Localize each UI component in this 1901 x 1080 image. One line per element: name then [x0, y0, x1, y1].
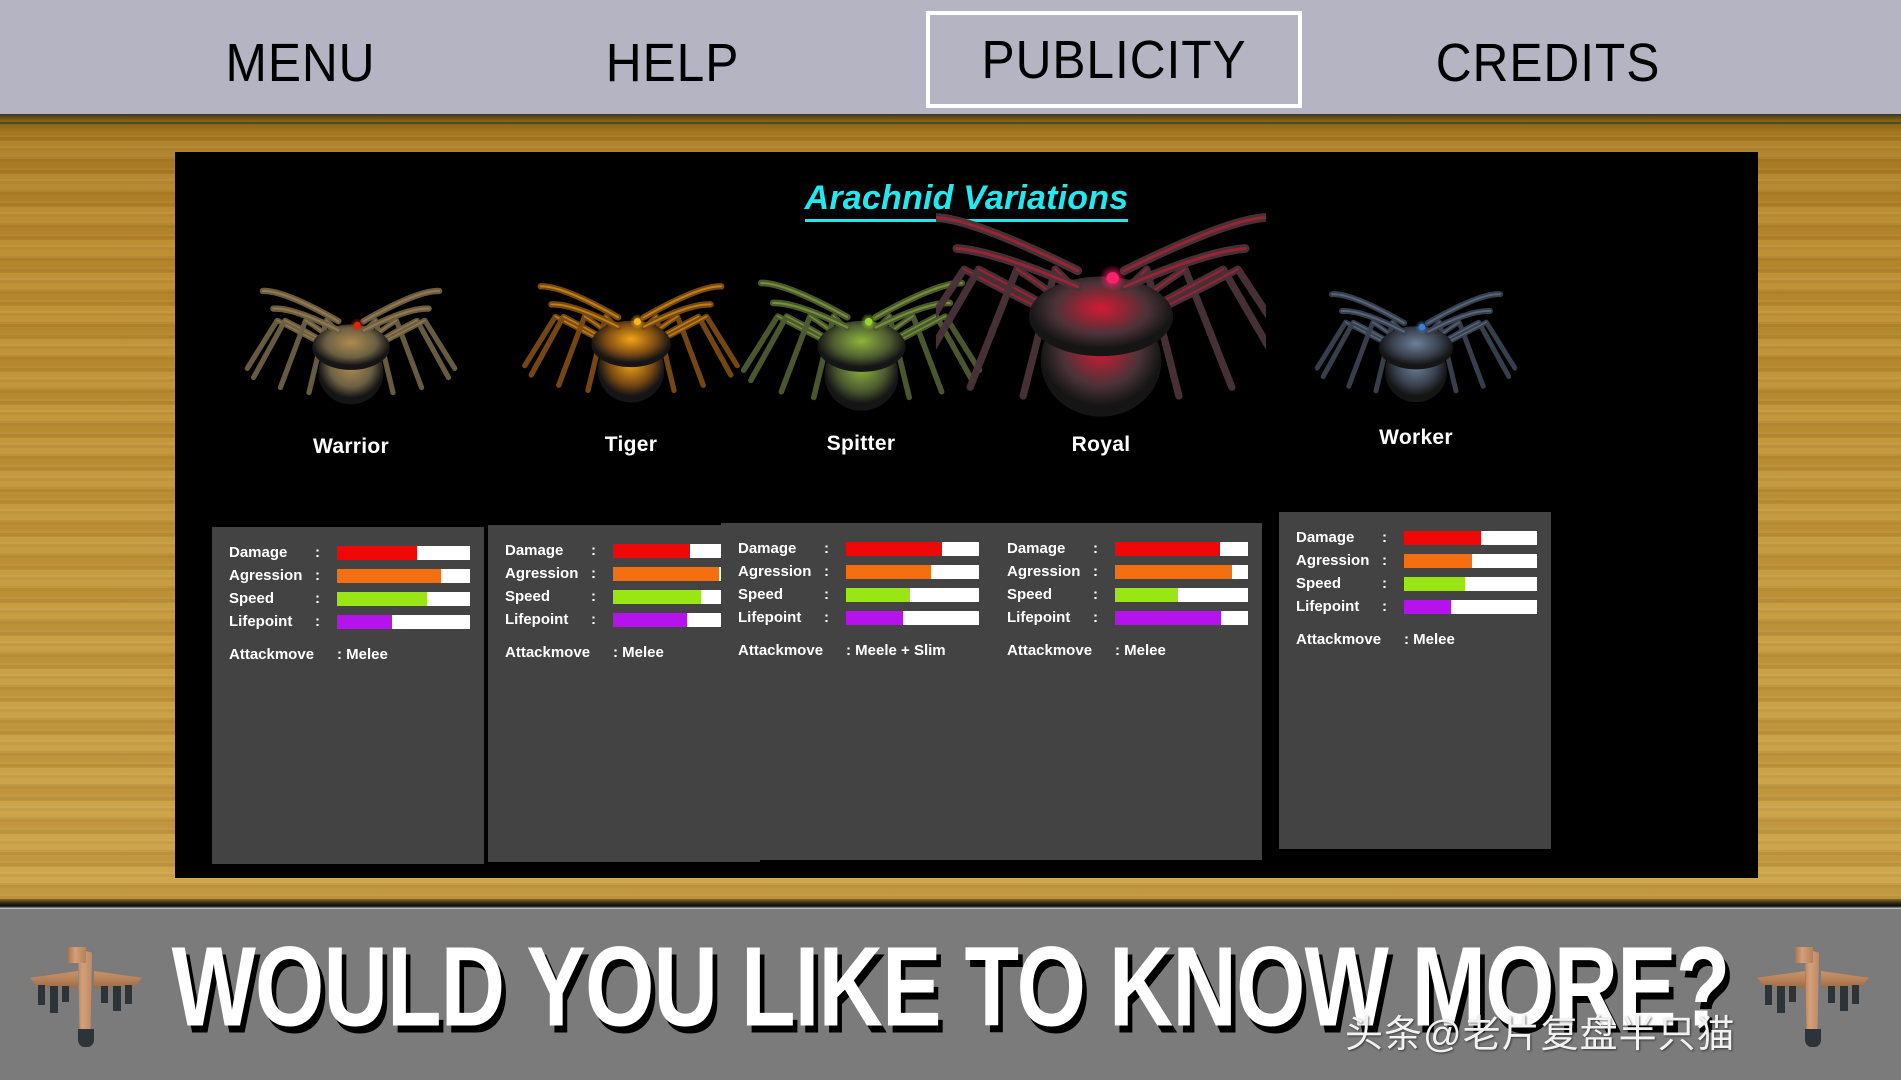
stat-bar-damage	[337, 546, 470, 560]
eagle-emblem-icon-right	[1755, 941, 1871, 1049]
stat-bar-agression	[846, 565, 979, 579]
stat-bar-agression	[1115, 565, 1248, 579]
stat-bar-lifepoint	[337, 615, 470, 629]
attackmove-value: : Meele + Slim	[846, 642, 946, 659]
stat-bar-fill	[846, 565, 931, 579]
stat-colon: :	[315, 544, 337, 561]
stat-bar-fill	[1404, 554, 1472, 568]
stat-row: Damage:	[488, 539, 760, 562]
stat-row: Lifepoint:	[990, 606, 1262, 629]
stat-row: Agression:	[721, 560, 993, 583]
stat-row: Speed:	[990, 583, 1262, 606]
attackmove-value: : Melee	[337, 646, 388, 663]
bottom-banner: WOULD YOU LIKE TO KNOW MORE? 头条@老片复盘半只猫	[0, 907, 1901, 1080]
stat-bar-fill	[613, 544, 690, 558]
stat-colon: :	[1093, 609, 1115, 626]
attackmove-label: Attackmove	[229, 646, 337, 663]
stat-bar-speed	[337, 592, 470, 606]
stat-label: Lifepoint	[1007, 609, 1093, 626]
stat-label: Agression	[1296, 552, 1382, 569]
stat-row: Lifepoint:	[212, 610, 484, 633]
stat-colon: :	[315, 567, 337, 584]
creature-artwork	[936, 197, 1266, 447]
stat-label: Agression	[738, 563, 824, 580]
attackmove-row: Attackmove: Melee	[212, 646, 484, 663]
nav-item-publicity-label: PUBLICITY	[981, 33, 1246, 87]
creature-name: Royal	[935, 433, 1267, 457]
stat-label: Damage	[1007, 540, 1093, 557]
stat-label: Agression	[1007, 563, 1093, 580]
attackmove-value: : Melee	[1115, 642, 1166, 659]
stat-bar-fill	[1115, 611, 1221, 625]
creature-stat-card: Damage:Agression:Speed:Lifepoint:Attackm…	[488, 525, 760, 862]
stat-row: Damage:	[212, 541, 484, 564]
attackmove-value: : Melee	[1404, 631, 1455, 648]
stat-bar-agression	[337, 569, 470, 583]
stat-bar-fill	[613, 613, 687, 627]
stat-row: Lifepoint:	[1279, 595, 1551, 618]
stat-row: Agression:	[212, 564, 484, 587]
stat-bar-fill	[1115, 565, 1232, 579]
stat-bar-fill	[337, 592, 427, 606]
stat-colon: :	[824, 563, 846, 580]
stat-label: Lifepoint	[505, 611, 591, 628]
attackmove-label: Attackmove	[738, 642, 846, 659]
stat-bar-lifepoint	[1404, 600, 1537, 614]
stat-bar-fill	[846, 611, 903, 625]
stat-label: Damage	[1296, 529, 1382, 546]
stat-colon: :	[1382, 529, 1404, 546]
stat-colon: :	[1093, 540, 1115, 557]
nav-divider-strip	[0, 114, 1901, 122]
nav-item-publicity[interactable]: PUBLICITY	[926, 11, 1302, 108]
stat-row: Lifepoint:	[488, 608, 760, 631]
attackmove-label: Attackmove	[1296, 631, 1404, 648]
stat-label: Damage	[229, 544, 315, 561]
stat-row: Damage:	[990, 537, 1262, 560]
stat-bar-fill	[846, 588, 910, 602]
stat-bar-fill	[337, 615, 392, 629]
stat-colon: :	[591, 611, 613, 628]
stat-colon: :	[1093, 586, 1115, 603]
attackmove-row: Attackmove: Melee	[1279, 631, 1551, 648]
stat-colon: :	[591, 565, 613, 582]
stat-colon: :	[591, 542, 613, 559]
app-root: MENU HELP PUBLICITY CREDITS Arachnid Var…	[0, 0, 1901, 1080]
stat-label: Speed	[1296, 575, 1382, 592]
stat-bar-agression	[1404, 554, 1537, 568]
stat-colon: :	[824, 609, 846, 626]
stat-bar-damage	[1115, 542, 1248, 556]
creature-artwork	[506, 244, 756, 444]
attackmove-row: Attackmove: Meele + Slim	[721, 642, 993, 659]
stat-bar-lifepoint	[846, 611, 979, 625]
stat-bar-damage	[846, 542, 979, 556]
stat-colon: :	[1093, 563, 1115, 580]
stat-row: Speed:	[488, 585, 760, 608]
stat-bar-fill	[1115, 542, 1220, 556]
stat-bar-lifepoint	[1115, 611, 1248, 625]
stat-row: Agression:	[1279, 549, 1551, 572]
watermark-text: 头条@老片复盘半只猫	[1345, 1003, 1736, 1058]
stat-label: Agression	[505, 565, 591, 582]
stat-row: Damage:	[1279, 526, 1551, 549]
top-navigation-bar: MENU HELP PUBLICITY CREDITS	[0, 0, 1901, 117]
attackmove-row: Attackmove: Melee	[990, 642, 1262, 659]
creature-stat-card: Damage:Agression:Speed:Lifepoint:Attackm…	[721, 523, 993, 860]
stat-bar-fill	[337, 546, 417, 560]
creature-stat-card: Damage:Agression:Speed:Lifepoint:Attackm…	[990, 523, 1262, 860]
stat-colon: :	[824, 586, 846, 603]
stat-bar-fill	[337, 569, 441, 583]
stat-bar-fill	[613, 567, 719, 581]
stat-bar-speed	[1404, 577, 1537, 591]
stat-row: Damage:	[721, 537, 993, 560]
stat-label: Agression	[229, 567, 315, 584]
nav-item-help[interactable]: HELP	[593, 26, 752, 100]
panel-bottom-divider	[0, 899, 1901, 909]
stat-row: Speed:	[1279, 572, 1551, 595]
stat-colon: :	[1382, 575, 1404, 592]
stat-row: Agression:	[990, 560, 1262, 583]
attackmove-label: Attackmove	[505, 644, 613, 661]
stat-row: Agression:	[488, 562, 760, 585]
stat-colon: :	[824, 540, 846, 557]
stat-row: Speed:	[721, 583, 993, 606]
nav-item-menu[interactable]: MENU	[213, 26, 389, 100]
stat-bar-fill	[1404, 600, 1451, 614]
stat-bar-fill	[1404, 577, 1465, 591]
stat-bar-speed	[846, 588, 979, 602]
creature-stat-card: Damage:Agression:Speed:Lifepoint:Attackm…	[212, 527, 484, 864]
stat-label: Speed	[1007, 586, 1093, 603]
stat-label: Lifepoint	[738, 609, 824, 626]
creature-stat-card: Damage:Agression:Speed:Lifepoint:Attackm…	[1279, 512, 1551, 849]
publicity-content-panel: Arachnid Variations WarriorTigerSpitterR…	[175, 152, 1758, 878]
stat-bar-fill	[846, 542, 942, 556]
attackmove-value: : Melee	[613, 644, 664, 661]
stat-colon: :	[315, 590, 337, 607]
stat-row: Speed:	[212, 587, 484, 610]
creature-name: Worker	[1250, 426, 1582, 450]
stat-colon: :	[1382, 598, 1404, 615]
stat-colon: :	[315, 613, 337, 630]
stat-label: Speed	[229, 590, 315, 607]
stat-row: Lifepoint:	[721, 606, 993, 629]
nav-item-credits[interactable]: CREDITS	[1423, 26, 1673, 100]
stat-label: Damage	[505, 542, 591, 559]
creature-artwork	[226, 247, 476, 447]
stat-bar-fill	[613, 590, 701, 604]
stat-label: Lifepoint	[229, 613, 315, 630]
stat-label: Speed	[505, 588, 591, 605]
stat-bar-speed	[1115, 588, 1248, 602]
stat-bar-damage	[1404, 531, 1537, 545]
stat-colon: :	[591, 588, 613, 605]
stat-label: Speed	[738, 586, 824, 603]
stat-label: Lifepoint	[1296, 598, 1382, 615]
stat-bar-fill	[1404, 531, 1481, 545]
stat-colon: :	[1382, 552, 1404, 569]
creature-artwork	[1291, 247, 1541, 447]
stat-label: Damage	[738, 540, 824, 557]
stat-bar-fill	[1115, 588, 1178, 602]
attackmove-label: Attackmove	[1007, 642, 1115, 659]
attackmove-row: Attackmove: Melee	[488, 644, 760, 661]
